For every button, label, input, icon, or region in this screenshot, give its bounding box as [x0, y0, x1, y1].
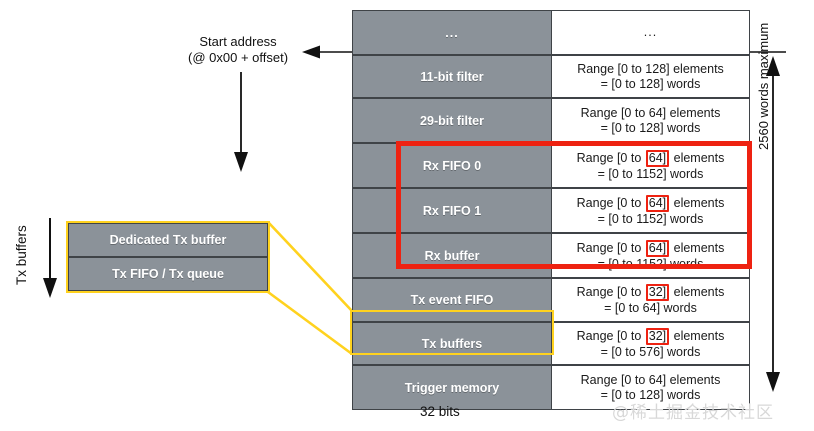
row-section-name: 29-bit filter	[352, 98, 552, 143]
row-size-line1: Range [0 to 64] elements	[581, 373, 721, 388]
highlighted-element-count: 64]	[646, 195, 669, 212]
table-row[interactable]: ... ...	[352, 10, 750, 55]
watermark-label: @稀土掘金技术社区	[612, 398, 774, 423]
row-size-desc: Range [0 to 32] elements = [0 to 576] wo…	[552, 322, 750, 365]
row-size-line1: ...	[644, 25, 657, 40]
row-size-desc: ...	[552, 10, 750, 55]
row-size-line2: = [0 to 576] words	[601, 345, 701, 360]
size-prefix: Range [0 to	[577, 241, 645, 255]
table-row[interactable]: Tx event FIFO Range [0 to 32] elements =…	[352, 278, 750, 322]
table-row[interactable]: 11-bit filter Range [0 to 128] elements …	[352, 55, 750, 98]
detail-cell-tx-fifo-queue[interactable]: Tx FIFO / Tx queue	[68, 257, 268, 291]
row-size-desc: Range [0 to 64] elements = [0 to 128] wo…	[552, 98, 750, 143]
start-address-line1: Start address	[188, 34, 288, 50]
row-size-line2: = [0 to 128] words	[601, 77, 701, 92]
memory-map-table: ... ... 11-bit filter Range [0 to 128] e…	[352, 10, 750, 390]
row-size-line2: = [0 to 1152] words	[598, 257, 704, 272]
size-suffix: elements	[670, 241, 724, 255]
row-size-line2: = [0 to 1152] words	[598, 167, 704, 182]
start-address-down-arrow	[234, 72, 248, 172]
size-suffix: elements	[670, 151, 724, 165]
row-size-line1: Range [0 to 64] elements	[577, 240, 725, 257]
callout-connector-lines	[268, 222, 352, 354]
row-section-name: Tx event FIFO	[352, 278, 552, 322]
size-suffix: elements	[670, 329, 724, 343]
row-section-name: Rx buffer	[352, 233, 552, 278]
size-suffix: elements	[670, 285, 724, 299]
row-size-desc: Range [0 to 64] elements = [0 to 1152] w…	[552, 143, 750, 188]
table-row[interactable]: Rx FIFO 0 Range [0 to 64] elements = [0 …	[352, 143, 750, 188]
bit-width-label: 32 bits	[420, 404, 460, 420]
size-prefix: Range [0 to	[577, 285, 645, 299]
row-size-desc: Range [0 to 64] elements = [0 to 1152] w…	[552, 233, 750, 278]
diagram-canvas: ... ... 11-bit filter Range [0 to 128] e…	[0, 0, 814, 431]
row-section-name: ...	[352, 10, 552, 55]
row-size-line1: Range [0 to 64] elements	[581, 106, 721, 121]
row-size-line2: = [0 to 64] words	[604, 301, 697, 316]
table-row[interactable]: Rx FIFO 1 Range [0 to 64] elements = [0 …	[352, 188, 750, 233]
highlighted-element-count: 32]	[646, 284, 669, 301]
row-size-line2: = [0 to 1152] words	[598, 212, 704, 227]
highlighted-element-count: 32]	[646, 328, 669, 345]
table-row[interactable]: 29-bit filter Range [0 to 64] elements =…	[352, 98, 750, 143]
row-size-line1: Range [0 to 64] elements	[577, 150, 725, 167]
table-row[interactable]: Rx buffer Range [0 to 64] elements = [0 …	[352, 233, 750, 278]
start-address-line2: (@ 0x00 + offset)	[188, 50, 288, 66]
row-size-line1: Range [0 to 128] elements	[577, 62, 724, 77]
row-size-line2: = [0 to 128] words	[601, 121, 701, 136]
tx-buffers-bracket-label: Tx buffers	[14, 225, 30, 285]
detail-cell-dedicated-tx-buffer[interactable]: Dedicated Tx buffer	[68, 223, 268, 257]
row-size-desc: Range [0 to 64] elements = [0 to 1152] w…	[552, 188, 750, 233]
size-prefix: Range [0 to	[577, 151, 645, 165]
row-section-name: Rx FIFO 0	[352, 143, 552, 188]
row-section-name: 11-bit filter	[352, 55, 552, 98]
row-section-name: Tx buffers	[352, 322, 552, 365]
highlighted-element-count: 64]	[646, 150, 669, 167]
total-words-label: 2560 words maximum	[756, 23, 772, 150]
size-suffix: elements	[670, 196, 724, 210]
row-section-name: Rx FIFO 1	[352, 188, 552, 233]
row-size-line1: Range [0 to 32] elements	[577, 284, 725, 301]
tx-buffers-detail-box: Dedicated Tx buffer Tx FIFO / Tx queue	[68, 223, 268, 291]
row-size-desc: Range [0 to 32] elements = [0 to 64] wor…	[552, 278, 750, 322]
row-size-line1: Range [0 to 32] elements	[577, 328, 725, 345]
table-row[interactable]: Tx buffers Range [0 to 32] elements = [0…	[352, 322, 750, 365]
size-prefix: Range [0 to	[577, 196, 645, 210]
start-address-label: Start address (@ 0x00 + offset)	[188, 34, 288, 66]
size-prefix: Range [0 to	[577, 329, 645, 343]
tx-buffers-bracket-arrow	[43, 218, 57, 298]
row-size-desc: Range [0 to 128] elements = [0 to 128] w…	[552, 55, 750, 98]
highlighted-element-count: 64]	[646, 240, 669, 257]
row-size-line1: Range [0 to 64] elements	[577, 195, 725, 212]
